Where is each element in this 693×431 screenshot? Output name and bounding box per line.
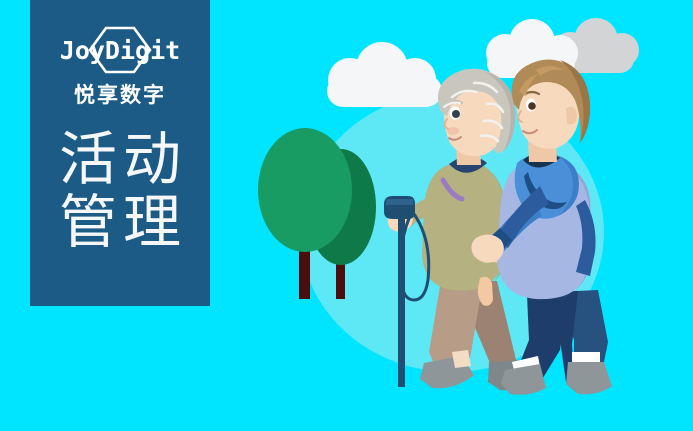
page-title: 活动 管理	[30, 128, 210, 254]
page-title-line-1: 活动	[30, 128, 210, 191]
title-panel: JoyDigit 悦享数字 活动 管理	[30, 0, 210, 306]
poster-canvas: JoyDigit 悦享数字 活动 管理	[0, 0, 693, 431]
page-title-line-2: 管理	[30, 191, 210, 254]
logo-wordmark: JoyDigit	[44, 26, 196, 74]
cloud-left	[327, 42, 442, 107]
logo-mark: JoyDigit	[44, 26, 196, 74]
brand-logo: JoyDigit 悦享数字	[30, 26, 210, 109]
logo-chinese-name: 悦享数字	[30, 79, 210, 109]
